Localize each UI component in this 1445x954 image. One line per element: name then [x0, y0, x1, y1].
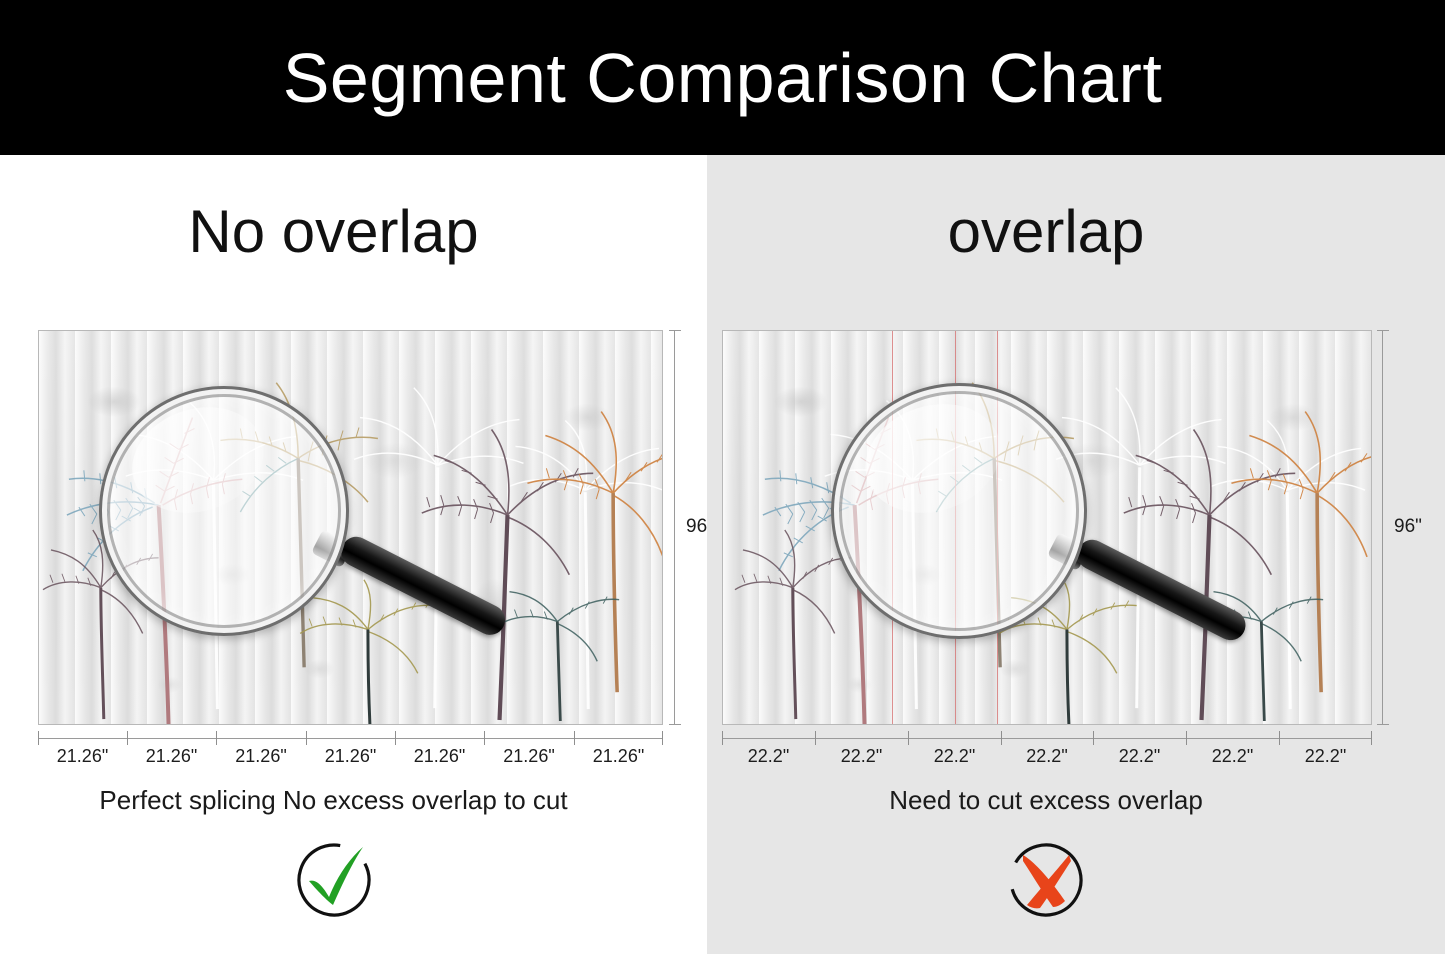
- panel-title-overlap: overlap: [707, 197, 1445, 266]
- panel-no-overlap: No overlap: [0, 155, 707, 954]
- width-dimension-line-right: [722, 738, 1372, 739]
- segment-label: 21.26": [216, 746, 306, 767]
- mural-figure-overlap: 96" 22.2" 22.2" 22.2" 22.2": [722, 330, 1372, 725]
- segment-labels-right: 22.2" 22.2" 22.2" 22.2" 22.2" 22.2" 22.2…: [722, 746, 1372, 767]
- segment-labels-left: 21.26" 21.26" 21.26" 21.26" 21.26" 21.26…: [38, 746, 663, 767]
- page-title: Segment Comparison Chart: [283, 38, 1163, 118]
- segment-label: 21.26": [127, 746, 216, 767]
- segment-label: 22.2": [1001, 746, 1093, 767]
- height-dimension-line-left: [674, 330, 675, 725]
- cross-circle-icon: [1003, 835, 1089, 921]
- segment-label: 22.2": [1093, 746, 1186, 767]
- check-circle-icon: [291, 835, 377, 921]
- segment-label: 21.26": [574, 746, 663, 767]
- header-banner: Segment Comparison Chart: [0, 0, 1445, 155]
- mural-figure-no-overlap: 96" 21.26" 21.26" 21.26" 21.26": [38, 330, 663, 725]
- segment-label: 22.2": [815, 746, 908, 767]
- segment-label: 21.26": [395, 746, 484, 767]
- comparison-panels: No overlap: [0, 155, 1445, 954]
- caption-no-overlap: Perfect splicing No excess overlap to cu…: [0, 785, 707, 816]
- mural-image-overlap: [722, 330, 1372, 725]
- segment-label: 22.2": [722, 746, 815, 767]
- segment-label: 21.26": [484, 746, 574, 767]
- segment-label: 22.2": [908, 746, 1001, 767]
- segment-label: 22.2": [1279, 746, 1372, 767]
- segment-label: 21.26": [306, 746, 395, 767]
- panel-title-no-overlap: No overlap: [0, 197, 707, 266]
- verdict-overlap: [707, 835, 1445, 921]
- palm-trees-illustration: [39, 331, 662, 724]
- verdict-no-overlap: [0, 835, 707, 921]
- height-label-right: 96": [1394, 516, 1422, 538]
- segment-label: 22.2": [1186, 746, 1279, 767]
- segment-label: 21.26": [38, 746, 127, 767]
- panel-overlap: overlap: [707, 155, 1445, 954]
- height-dimension-line-right: [1382, 330, 1383, 725]
- width-dimension-line-left: [38, 738, 663, 739]
- caption-overlap: Need to cut excess overlap: [707, 785, 1445, 816]
- mural-image-no-overlap: [38, 330, 663, 725]
- height-label-left: 96": [686, 516, 707, 538]
- comparison-chart-page: Segment Comparison Chart No overlap: [0, 0, 1445, 954]
- palm-trees-illustration: [723, 331, 1371, 724]
